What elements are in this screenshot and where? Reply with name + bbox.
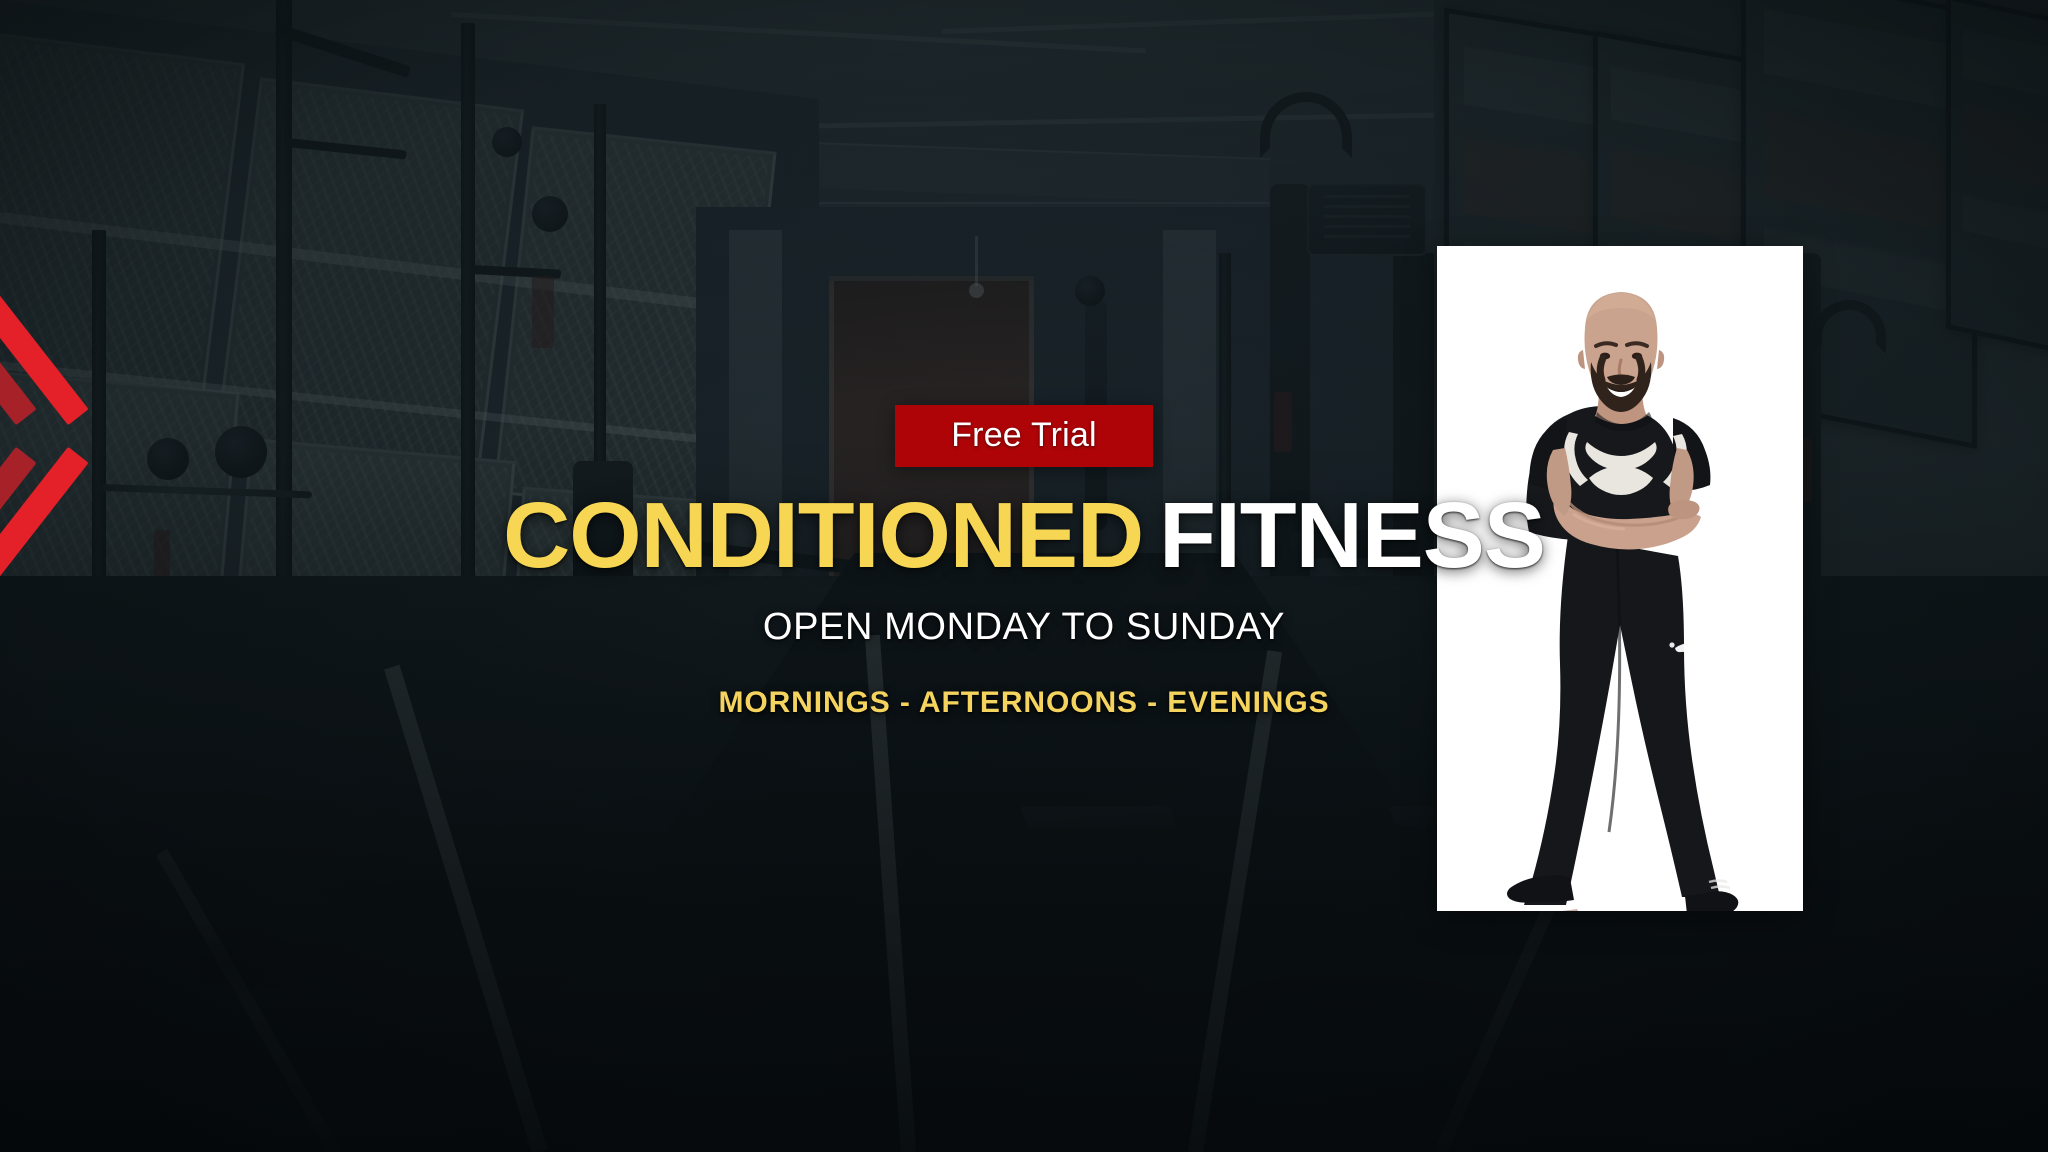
- headline-word-conditioned: CONDITIONED: [503, 483, 1143, 587]
- opening-days-text: OPEN MONDAY TO SUNDAY: [763, 608, 1285, 646]
- opening-times-text: MORNINGS - AFTERNOONS - EVENINGS: [718, 688, 1329, 718]
- free-trial-badge[interactable]: Free Trial: [895, 405, 1153, 467]
- promo-banner: Free Trial CONDITIONEDFITNESS OPEN MONDA…: [0, 0, 2048, 1152]
- page-title: CONDITIONEDFITNESS: [503, 489, 1545, 582]
- headline-word-fitness: FITNESS: [1159, 483, 1545, 587]
- banner-content: Free Trial CONDITIONEDFITNESS OPEN MONDA…: [0, 0, 2048, 1152]
